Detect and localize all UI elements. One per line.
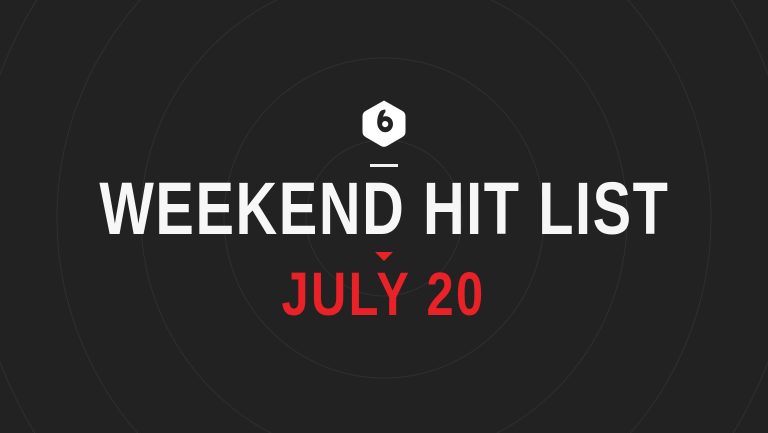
poster-canvas: WEEKEND HIT LIST JULY 20 xyxy=(0,0,768,433)
date-label: JULY 20 xyxy=(282,270,486,319)
page-title: WEEKEND HIT LIST xyxy=(99,180,669,238)
poster-content: WEEKEND HIT LIST JULY 20 xyxy=(0,0,768,433)
beats-hexagon-logo xyxy=(362,100,406,148)
